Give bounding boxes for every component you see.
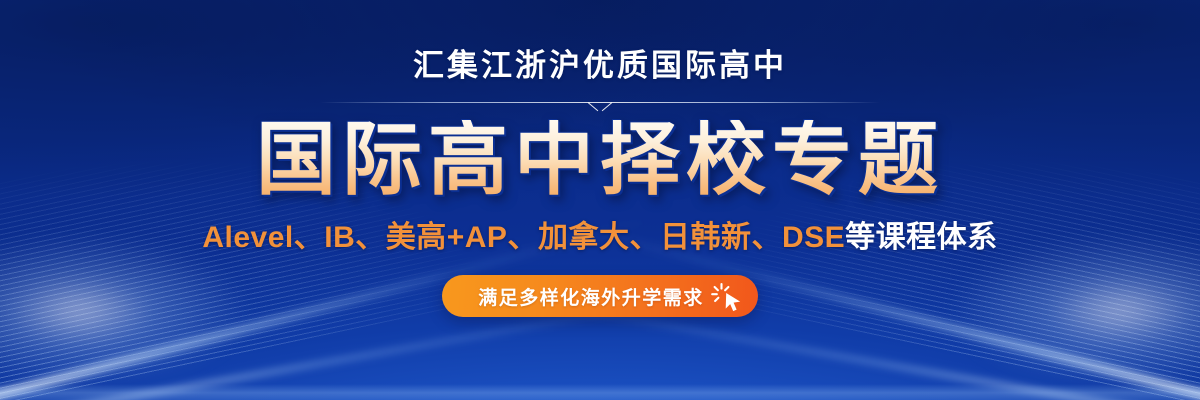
banner-content: 汇集江浙沪优质国际高中 国际高中择校专题 Alevel、IB、美高+AP、加拿大…: [0, 0, 1200, 400]
cta-button[interactable]: 满足多样化海外升学需求: [442, 275, 758, 317]
chevron-down-icon: [589, 98, 611, 110]
cta-button-label: 满足多样化海外升学需求: [478, 283, 704, 310]
banner-eyebrow-text: 汇集江浙沪优质国际高中: [413, 50, 787, 81]
click-cursor-icon: [710, 281, 744, 315]
divider: [320, 98, 880, 112]
page-title: 国际高中择校专题: [256, 120, 944, 200]
banner-subtitle: Alevel、IB、美高+AP、加拿大、日韩新、DSE等课程体系: [202, 223, 997, 253]
banner-title-text: 国际高中择校专题: [256, 120, 944, 200]
promo-banner: 汇集江浙沪优质国际高中 国际高中择校专题 Alevel、IB、美高+AP、加拿大…: [0, 0, 1200, 400]
subtitle-course-list: Alevel、IB、美高+AP、加拿大、日韩新、DSE: [202, 221, 845, 254]
subtitle-tail-text: 等课程体系: [845, 221, 998, 254]
